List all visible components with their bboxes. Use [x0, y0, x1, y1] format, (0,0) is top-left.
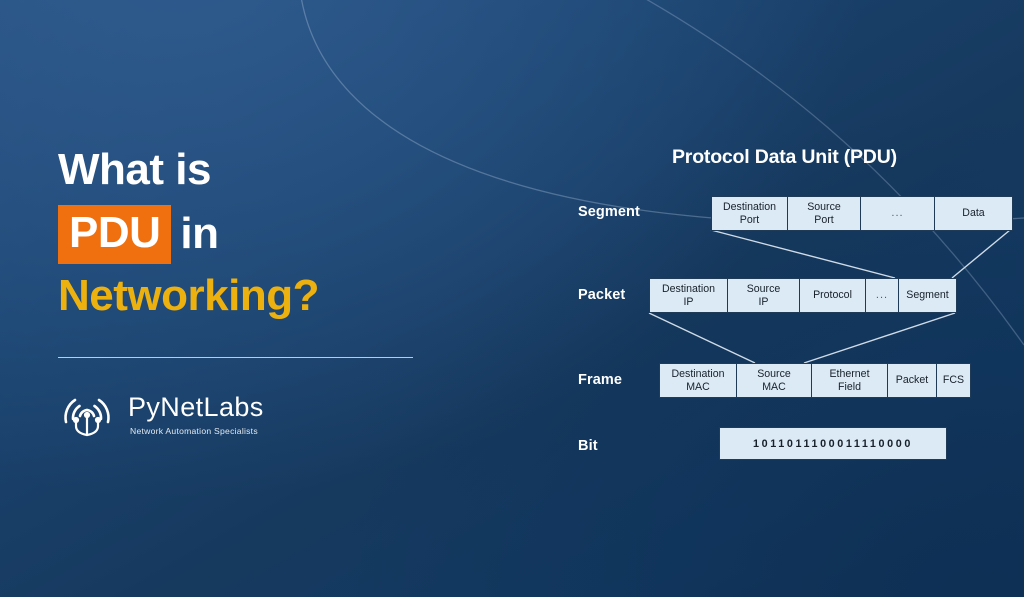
row-label-packet: Packet	[578, 287, 625, 303]
cell-source-mac: Source MAC	[737, 364, 812, 397]
cell-segment-payload: Segment	[899, 279, 956, 312]
headline-block: What is PDU in Networking?	[58, 148, 478, 319]
brand-tagline: Network Automation Specialists	[130, 426, 258, 436]
row-label-frame: Frame	[578, 372, 622, 388]
headline-divider	[58, 357, 413, 358]
brand-logo: PyNetLabs Network Automation Specialists	[58, 388, 264, 442]
connector-packet-left	[649, 313, 755, 363]
connector-packet-right	[804, 313, 955, 363]
cell-destination-port: Destination Port	[712, 197, 788, 230]
cell-source-ip: Source IP	[728, 279, 800, 312]
cell-destination-mac: Destination MAC	[660, 364, 737, 397]
pdu-row-segment: Destination Port Source Port ... Data	[711, 196, 1013, 231]
pdu-row-bit: 1011011100011110000	[719, 427, 947, 460]
cell-source-port: Source Port	[788, 197, 861, 230]
cell-ethernet-field: Ethernet Field	[812, 364, 888, 397]
cell-packet-ellipsis: ...	[866, 279, 899, 312]
cell-data: Data	[935, 197, 1012, 230]
pdu-row-frame: Destination MAC Source MAC Ethernet Fiel…	[659, 363, 971, 398]
pdu-diagram: Protocol Data Unit (PDU) Segment Destina…	[552, 132, 1024, 492]
diagram-title: Protocol Data Unit (PDU)	[672, 146, 897, 169]
connector-segment-left	[711, 230, 895, 278]
poster-canvas: What is PDU in Networking?	[0, 0, 1024, 597]
bit-stream-value: 1011011100011110000	[753, 438, 913, 450]
cell-protocol: Protocol	[800, 279, 866, 312]
pdu-row-packet: Destination IP Source IP Protocol ... Se…	[649, 278, 957, 313]
connector-segment-right	[952, 230, 1010, 278]
brand-name: PyNetLabs	[128, 394, 264, 421]
pdu-highlight-chip: PDU	[58, 205, 171, 264]
cell-destination-ip: Destination IP	[650, 279, 728, 312]
cell-fcs: FCS	[937, 364, 970, 397]
headline-line-1: What is	[58, 148, 478, 193]
cell-segment-ellipsis: ...	[861, 197, 935, 230]
network-node-logo-icon	[58, 388, 116, 442]
headline-connector-word: in	[180, 212, 218, 257]
cell-packet-payload: Packet	[888, 364, 937, 397]
row-label-segment: Segment	[578, 204, 640, 220]
headline-line-2: PDU in	[58, 205, 478, 264]
headline-line-3: Networking?	[58, 274, 478, 319]
row-label-bit: Bit	[578, 438, 598, 454]
